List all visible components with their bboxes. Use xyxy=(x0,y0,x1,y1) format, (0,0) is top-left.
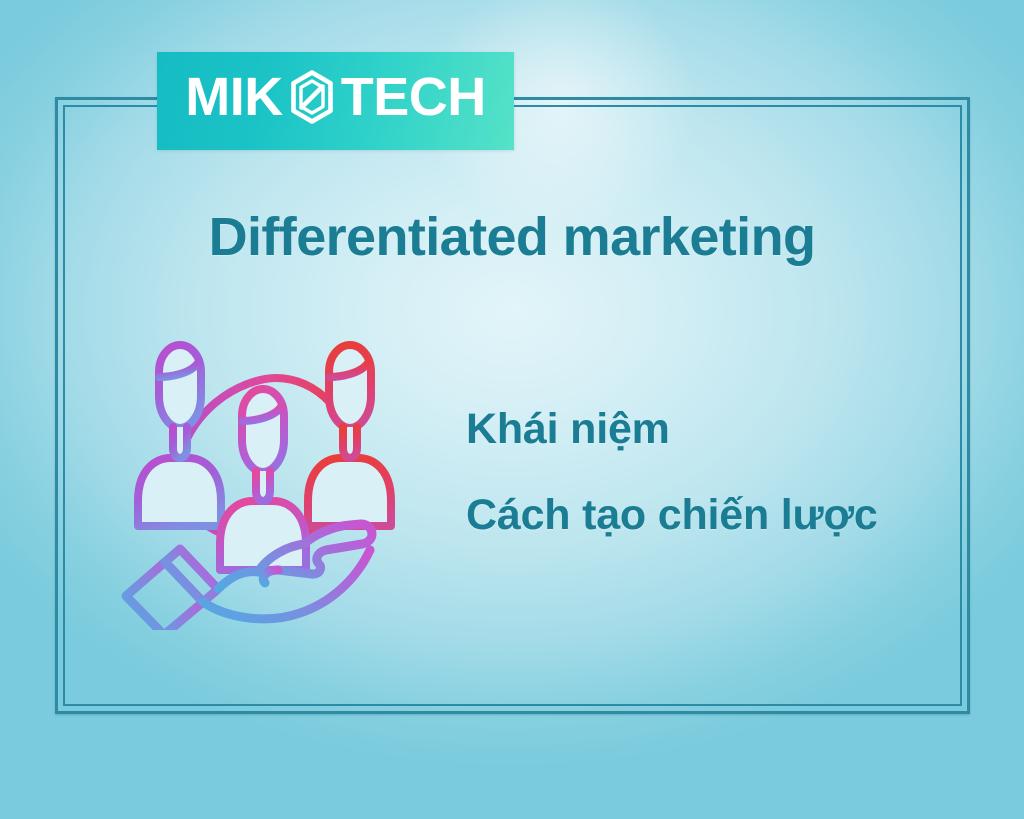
page-title: Differentiated marketing xyxy=(0,206,1024,268)
three-people-on-hand-illustration xyxy=(118,330,408,630)
logo-word-right: TECH xyxy=(341,70,486,124)
slide-canvas: MIK TECH Differentiated marketing Khái n… xyxy=(0,0,1024,819)
bullet-list: Khái niệm Cách tạo chiến lược xyxy=(466,408,986,537)
logo-word-left: MIK xyxy=(185,70,282,124)
bullet-item-1: Khái niệm xyxy=(466,408,986,451)
brand-logo-block: MIK TECH xyxy=(157,52,514,150)
bullet-item-2: Cách tạo chiến lược xyxy=(466,494,986,537)
hexagon-logo-icon xyxy=(289,70,335,124)
brand-logo-content: MIK TECH xyxy=(185,70,485,124)
